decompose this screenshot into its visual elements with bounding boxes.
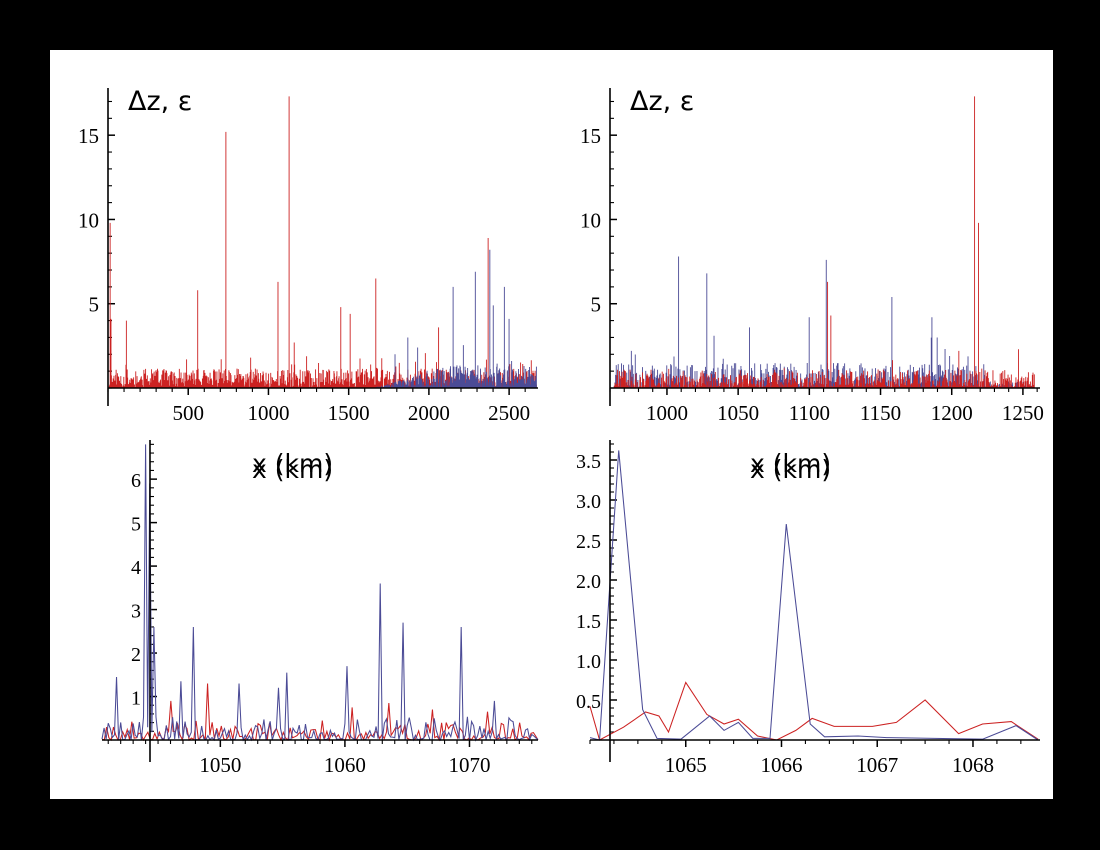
panel-title-top-right: Δz, ε xyxy=(630,86,694,117)
y-tick-label: 15 xyxy=(580,124,601,148)
series-blue-top-left xyxy=(109,250,536,388)
y-tick-label: 4 xyxy=(131,557,141,579)
y-tick-label: 6 xyxy=(131,470,141,492)
x-tick-label: 1066 xyxy=(760,753,802,777)
y-tick-label: 10 xyxy=(78,208,99,232)
axis-lines-bottom-left xyxy=(102,440,538,762)
y-tick-label: 1.0 xyxy=(576,651,601,673)
y-tick-label: 5 xyxy=(131,514,141,536)
x-tick-label: 1070 xyxy=(448,753,490,777)
y-tick-label: 0.5 xyxy=(576,691,601,713)
series-blue-bottom-left xyxy=(102,444,538,740)
series-red-top-right xyxy=(614,96,1034,388)
y-tick-label: 2 xyxy=(131,644,141,666)
axis-ticks-bottom-left xyxy=(108,444,532,747)
y-tick-label: 3.5 xyxy=(576,451,601,473)
axis-ticks-top-right xyxy=(610,101,1037,395)
x-tick-label: 1050 xyxy=(199,753,241,777)
plot-bottom-left: 105010601070123456 x (km) xyxy=(50,422,552,799)
axis-lines-bottom-right xyxy=(590,440,1040,762)
y-tick-label: 5 xyxy=(591,293,602,317)
series-red-bottom-right xyxy=(590,682,1038,740)
axis-title-bottom-right: x (km) xyxy=(750,455,831,484)
axis-lines-top-right xyxy=(610,88,1040,406)
axis-ticks-bottom-right xyxy=(590,444,1021,747)
y-tick-label: 2.5 xyxy=(576,531,601,553)
axis-lines-top-left xyxy=(108,88,538,406)
plot-bottom-right: 10651066106710680.51.01.52.02.53.03.5 x … xyxy=(552,422,1053,799)
x-tick-label: 1068 xyxy=(952,753,994,777)
chart-panel-bottom-right: 10651066106710680.51.01.52.02.53.03.5 x … xyxy=(552,422,1053,799)
y-tick-label: 1.5 xyxy=(576,611,601,633)
axis-labels-bottom-right: 10651066106710680.51.01.52.02.53.03.5 xyxy=(576,451,994,777)
x-tick-label: 1060 xyxy=(324,753,366,777)
plot-top-right: 10001050110011501200125051015 Δz, ε xyxy=(552,50,1053,440)
y-tick-label: 3.0 xyxy=(576,491,601,513)
figure-paper: 500100015002000250051015 Δz, ε 100010501… xyxy=(50,50,1053,799)
y-tick-label: 5 xyxy=(89,293,100,317)
y-tick-label: 15 xyxy=(78,124,99,148)
y-tick-label: 3 xyxy=(131,601,141,623)
series-red-top-left xyxy=(109,96,536,388)
axis-ticks-top-left xyxy=(108,101,525,395)
y-tick-label: 2.0 xyxy=(576,571,601,593)
series-blue-top-right xyxy=(614,257,1034,388)
series-blue-bottom-right xyxy=(590,450,1038,740)
chart-panel-bottom-left: 105010601070123456 x (km) xyxy=(50,422,552,799)
plot-top-left: 500100015002000250051015 Δz, ε xyxy=(50,50,552,440)
chart-panel-top-left: 500100015002000250051015 Δz, ε xyxy=(50,50,552,440)
y-tick-label: 10 xyxy=(580,208,601,232)
x-tick-label: 1067 xyxy=(856,753,898,777)
y-tick-label: 1 xyxy=(131,688,141,710)
chart-panel-top-right: 10001050110011501200125051015 Δz, ε xyxy=(552,50,1053,440)
x-tick-label: 1065 xyxy=(665,753,707,777)
axis-title-bottom-left: x (km) xyxy=(252,455,333,484)
panel-title-top-left: Δz, ε xyxy=(128,86,192,117)
figure-stage: 500100015002000250051015 Δz, ε 100010501… xyxy=(0,0,1100,850)
